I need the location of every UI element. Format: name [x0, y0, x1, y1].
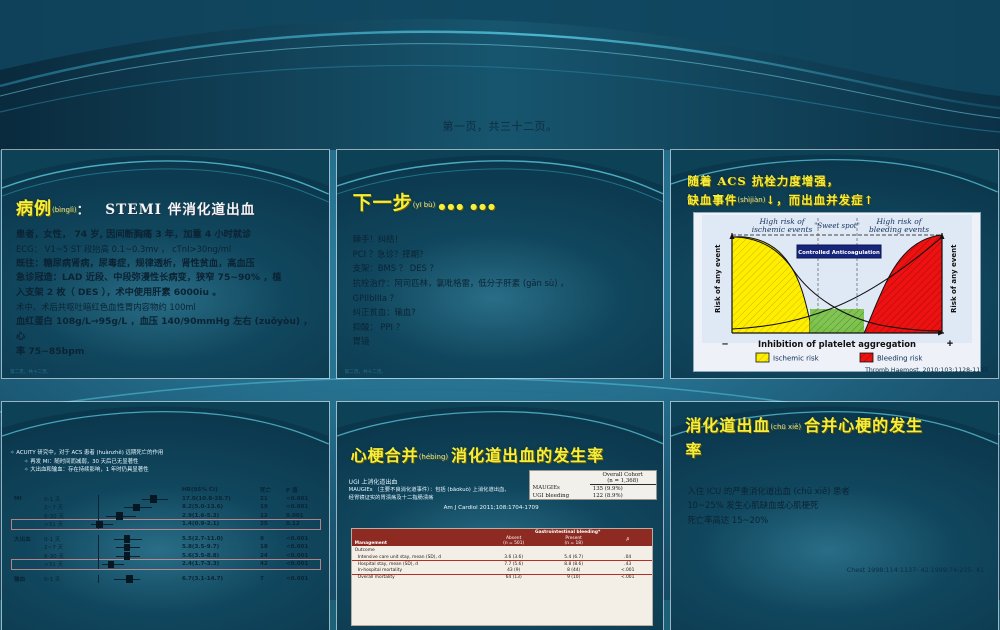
table-row: In-hospital mortality 43 (9) 8 (44) <.00… — [352, 567, 652, 574]
forest-cell — [80, 535, 180, 544]
hr-value: 17.0(10.8-28.7) — [180, 495, 258, 504]
hr-value: 1.4(0.9-2.1) — [180, 520, 258, 529]
row-value: 135 (9.9%) — [590, 485, 656, 493]
slide-footer: 第二页，共十二页。 — [345, 369, 386, 375]
svg-text:+: + — [947, 338, 953, 350]
row-absent: 7.7 (5.6) — [484, 561, 544, 568]
body-line: 抑酸： PPI ？ — [353, 320, 649, 335]
p-value: <0.001 — [284, 560, 320, 569]
note-line: UGI 上消化道出血 — [349, 478, 539, 487]
table-header-row: HR(95% CI) 死亡 P 值 — [12, 486, 320, 495]
forest-cell — [80, 495, 180, 504]
svg-text:ischemic events: ischemic events — [752, 225, 813, 234]
deaths-value: 25 — [258, 520, 284, 529]
body-line: 10~25% 发生心肌缺血或心肌梗死 — [687, 498, 987, 512]
deaths-value: 21 — [258, 495, 284, 504]
deaths-value: 12 — [258, 512, 284, 521]
forest-cell — [80, 575, 180, 584]
row-label: Hospital stay, mean (SD), d — [352, 561, 484, 568]
body-line: 入住 ICU 的严重消化道出血 (chū xiě) 患者 — [687, 484, 987, 498]
slide-title-line-1: 随着 ACS 抗栓力度增强， — [687, 172, 874, 191]
table-header-row: Management Absent (n = 501) Present (n =… — [352, 535, 652, 546]
row-present: 5.4 (6.7) — [544, 554, 604, 561]
body-line: 入支架 2 枚（ DES ），术中使用肝素 6000iu 。 — [16, 286, 316, 301]
body-line: PCI ？急诊？择期? — [353, 247, 649, 262]
group-label: 大出血 — [12, 535, 42, 544]
hr-value: 5.5(2.7-11.0) — [180, 535, 258, 544]
deaths-value: 19 — [258, 503, 284, 512]
period-label: 2~7 天 — [42, 543, 80, 552]
slide-row-1: 病例(bìnglì)： STEMI 伴消化道出血 患者，女性， 74 岁, 因间… — [0, 150, 1000, 378]
row-p: <.001 — [604, 567, 652, 574]
risk-balance-chart-svg: High risk of ischemic events "Sweet spot… — [694, 213, 980, 371]
slide-title: 病例(bìnglì)： STEMI 伴消化道出血 — [16, 194, 255, 219]
table-row: Overall mortality 64 (13) 9 (10) <.001 — [352, 574, 652, 581]
svg-text:Bleeding risk: Bleeding risk — [877, 355, 923, 363]
note-line: 经胃镜证实的胃溃疡及十二指肠溃疡 — [349, 495, 539, 503]
slide-notes: UGI 上消化道出血 MAUGIEs （主要不良消化道事件）：包括 (bāoku… — [349, 478, 539, 512]
group-label: 输血 — [12, 575, 42, 584]
row-value: 122 (8.9%) — [590, 492, 656, 499]
slide-title: 消化道出血(chū xiě)合并心梗的发生 率 — [685, 414, 985, 464]
slide-body: 棘手！纠结！ PCI ？急诊？择期? 支架：BMS ？ DES ？ 抗栓治疗：阿… — [353, 232, 649, 349]
table-row: Hospital stay, mean (SD), d 7.7 (5.6) 8.… — [352, 561, 652, 568]
period-label: 2~7 天 — [42, 503, 80, 512]
body-line: 死亡率高达 15~20% — [687, 513, 987, 527]
hr-value: 2.9(1.6-5.3) — [180, 512, 258, 521]
hr-value: 8.2(5.0-13.6) — [180, 503, 258, 512]
p-value: 0.001 — [284, 512, 320, 521]
row-label: In-hospital mortality — [352, 567, 484, 574]
risk-balance-figure: High risk of ischemic events "Sweet spot… — [693, 212, 981, 372]
overall-cohort-table: Overall Cohort (n = 1,368) MAUGIEs 135 (… — [529, 470, 657, 500]
body-line: 急诊冠造：LAD 近段、中段弥漫性长病变，狭窄 75~90% ，植 — [16, 271, 316, 286]
row-present: 9 (10) — [544, 574, 604, 581]
row-absent: 64 (13) — [484, 574, 544, 581]
row-absent: 43 (9) — [484, 567, 544, 574]
table-row: 8-30 天 5.6(3.5-8.8) 24 <0.001 — [12, 552, 320, 561]
hr-value: 6.7(3.1-14.7) — [180, 575, 258, 584]
slide-thumbnail-mi-gi-bleeding[interactable]: 心梗合并(hébìng)消化道出血的发生率 UGI 上消化道出血 MAUGIEs… — [337, 402, 664, 630]
bullet-row: ✧ 再发 MI：随时间而减弱，30 天后已无显著性 — [10, 458, 322, 467]
bullet-row: ✧ ACUITY 研究中，对于 ACS 患者 (huànzhě) 远期死亡的作用 — [10, 449, 322, 458]
table-row: MI 0-1 天 17.0(10.8-28.7) 21 <0.001 — [12, 495, 320, 504]
period-label: 0-1 天 — [42, 575, 80, 584]
col-header-absent: Absent (n = 501) — [484, 535, 544, 546]
hr-value: 2.4(1.7-3.3) — [180, 560, 258, 569]
forest-cell — [80, 552, 180, 561]
deaths-value: 18 — [258, 543, 284, 552]
gi-bleeding-outcomes-table: Gastrointestinal bleeding* Management Ab… — [351, 528, 653, 626]
slide-title-pinyin: (hébìng) — [419, 453, 448, 461]
body-line: 率 75~85bpm — [16, 345, 316, 360]
row-label: UGI bleeding — [530, 492, 590, 499]
slide-title-pinyin: (bìnglì) — [52, 206, 77, 214]
slide-body: 患者，女性， 74 岁, 因间断胸痛 3 年，加重 4 小时就诊 ECG： V1… — [16, 228, 316, 360]
row-p: .43 — [604, 561, 652, 568]
col-header-present: Present (n = 18) — [544, 535, 604, 546]
row-absent: 3.6 (3.6) — [484, 554, 544, 561]
bullet-row: ✧ 大出血和输血：存在持续影响，1 年时仍具显著性 — [10, 466, 322, 475]
slide-bullets: ✧ ACUITY 研究中，对于 ACS 患者 (huànzhě) 远期死亡的作用… — [10, 449, 322, 475]
period-label: 0-1 天 — [42, 495, 80, 504]
hr-value: 5.8(3.5-9.7) — [180, 543, 258, 552]
row-present: 8.8 (8.6) — [544, 561, 604, 568]
body-line: 纠正贫血：输血? — [353, 305, 649, 320]
group-label: MI — [12, 495, 42, 504]
slide-title: 随着 ACS 抗栓力度增强， 缺血事件(shìjiàn)↓，而出血并发症↑ — [687, 172, 874, 210]
body-line: 支架：BMS ？ DES ？ — [353, 261, 649, 276]
period-label: 0-1 天 — [42, 535, 80, 544]
body-line: 既往：糖尿病肾病，尿毒症，规律透析，肾性贫血，高血压 — [16, 257, 316, 272]
forest-plot-table: HR(95% CI) 死亡 P 值 MI 0-1 天 17.0(10.8-28.… — [12, 486, 320, 583]
slide-title-line-1: 消化道出血(chū xiě)合并心梗的发生 — [685, 414, 985, 439]
forest-cell — [80, 503, 180, 512]
body-line: 血红蛋白 108g/L→95g/L ，血压 140/90mmHg 左右 (zuǒ… — [16, 315, 316, 345]
row-label: Intensive care unit stay, mean (SD), d — [352, 554, 484, 561]
svg-text:Controlled Anticoagulation: Controlled Anticoagulation — [799, 250, 881, 256]
col-absent-line2: (n = 501) — [487, 541, 541, 546]
period-label: >31 天 — [42, 560, 80, 569]
down-arrow-icon: ↓ — [765, 193, 776, 207]
bullet-text: 大出血和输血：存在持续影响，1 年时仍具显著性 — [30, 467, 148, 473]
col-header-p: P 值 — [284, 486, 320, 495]
table-row: 8-30 天 2.9(1.6-5.3) 12 0.001 — [12, 512, 320, 521]
note-line: MAUGIEs （主要不良消化道事件）：包括 (bāokuò) 上消化道出血、 — [349, 487, 539, 495]
body-line: 术中、术后共呕吐暗红色血性胃内容物约 100ml — [16, 301, 316, 315]
title-segment-bleeding: ，而出血并发症 — [776, 193, 864, 207]
col-header-hr: HR(95% CI) — [180, 486, 258, 495]
slide-title-part-b: 消化道出血的发生率 — [451, 446, 604, 465]
row-p: <.001 — [604, 574, 652, 581]
p-value: 0.12 — [284, 520, 320, 529]
col-header-management: Management — [352, 535, 484, 546]
svg-text:Ischemic risk: Ischemic risk — [773, 355, 820, 363]
body-line: 胃镜 — [353, 334, 649, 349]
bullet-text: ACUITY 研究中，对于 ACS 患者 (huànzhě) 远期死亡的作用 — [16, 450, 163, 456]
forest-plot: HR(95% CI) 死亡 P 值 MI 0-1 天 17.0(10.8-28.… — [12, 486, 322, 583]
col-header-p: P — [604, 535, 652, 546]
body-line: 患者，女性， 74 岁, 因间断胸痛 3 年，加重 4 小时就诊 — [16, 228, 316, 243]
slide-title-main: 下一步 — [353, 192, 413, 214]
slide-title-part-b: 合并心梗的发生 — [804, 416, 923, 435]
forest-cell — [80, 560, 180, 569]
table-row: 大出血 0-1 天 5.5(2.7-11.0) 9 <0.001 — [12, 535, 320, 544]
slide-grid: 病例(bìnglì)： STEMI 伴消化道出血 患者，女性， 74 岁, 因间… — [0, 150, 1000, 630]
slide-title-line-2: 率 — [685, 439, 985, 464]
p-value: <0.001 — [284, 575, 320, 584]
section-label: Outcome — [352, 546, 652, 554]
deaths-value: 7 — [258, 575, 284, 584]
forest-cell — [80, 543, 180, 552]
row-label: MAUGIEs — [530, 485, 590, 493]
slide-body: 入住 ICU 的严重消化道出血 (chū xiě) 患者 10~25% 发生心肌… — [687, 484, 987, 527]
table-row: 2~7 天 5.8(3.5-9.7) 18 <0.001 — [12, 543, 320, 552]
svg-text:Risk of any event: Risk of any event — [950, 244, 958, 313]
table-header-row: Overall Cohort (n = 1,368) — [530, 471, 656, 485]
slide-row-2: ✧ ACUITY 研究中，对于 ACS 患者 (huànzhě) 远期死亡的作用… — [0, 402, 1000, 630]
slide-title-line-2: 缺血事件(shìjiàn)↓，而出血并发症↑ — [687, 191, 874, 210]
period-label: 8-30 天 — [42, 552, 80, 561]
deaths-value: 42 — [258, 560, 284, 569]
table-row: Intensive care unit stay, mean (SD), d 3… — [352, 554, 652, 561]
deaths-value: 9 — [258, 535, 284, 544]
svg-text:bleeding events: bleeding events — [869, 225, 929, 234]
bullet-text: 再发 MI：随时间而减弱，30 天后已无显著性 — [30, 459, 138, 465]
period-label: >31 天 — [42, 520, 80, 529]
body-line: GPIIbIIIa ？ — [353, 291, 649, 306]
slide-title-rest: STEMI 伴消化道出血 — [105, 202, 255, 218]
slide-thumbnail-next-step[interactable]: 下一步(yī bù)●●● ●●● 棘手！纠结！ PCI ？急诊？择期? 支架：… — [337, 150, 664, 378]
body-line: ECG： V1~5 ST 段抬高 0.1~0.3mv ， cTnI>30ng/m… — [16, 243, 316, 257]
period-label: 8-30 天 — [42, 512, 80, 521]
table-row-highlighted: >31 天 2.4(1.7-3.3) 42 <0.001 — [12, 560, 320, 569]
slide-thumbnail-case-stemi[interactable]: 病例(bìnglì)： STEMI 伴消化道出血 患者，女性， 74 岁, 因间… — [2, 150, 329, 378]
slide-title-part-a: 消化道出血 — [685, 416, 770, 435]
slide-title-colon: ： — [77, 203, 91, 218]
note-citation: Am J Cardiol 2011;108:1704-1709 — [349, 504, 539, 512]
svg-text:Inhibition of platelet aggrega: Inhibition of platelet aggregation — [758, 339, 916, 349]
slide-thumbnail-acuity-forest[interactable]: ✧ ACUITY 研究中，对于 ACS 患者 (huànzhě) 远期死亡的作用… — [2, 402, 329, 630]
p-value: <0.001 — [284, 495, 320, 504]
p-value: <0.001 — [284, 503, 320, 512]
body-line: 棘手！纠结！ — [353, 232, 649, 247]
table-row: 2~7 天 8.2(5.0-13.6) 19 <0.001 — [12, 503, 320, 512]
row-p: .04 — [604, 554, 652, 561]
row-present: 8 (44) — [544, 567, 604, 574]
slide-citation: Thromb Haemost. 2010;103:1128-1135 — [865, 367, 988, 374]
slide-title-main: 病例 — [16, 199, 52, 219]
row-label: Overall mortality — [352, 574, 484, 581]
slide-citation: Chest 1998;114:1137- 42.1999;74:235- 41 — [847, 566, 984, 574]
deaths-value: 24 — [258, 552, 284, 561]
table-section-row: Outcome — [352, 546, 652, 554]
svg-text:Risk of any event: Risk of any event — [714, 244, 722, 313]
col-header-deaths: 死亡 — [258, 486, 284, 495]
table-row: UGI bleeding 122 (8.9%) — [530, 492, 656, 499]
slide-title-pinyin: (chū xiě) — [770, 423, 801, 431]
svg-text:"Sweet spot": "Sweet spot" — [815, 222, 861, 230]
p-value: <0.001 — [284, 543, 320, 552]
table-row: MAUGIEs 135 (9.9%) — [530, 485, 656, 493]
slide-thumbnail-acs-balance[interactable]: 随着 ACS 抗栓力度增强， 缺血事件(shìjiàn)↓，而出血并发症↑ — [671, 150, 998, 378]
slide-thumbnail-gi-bleeding-mi[interactable]: 消化道出血(chū xiě)合并心梗的发生 率 入住 ICU 的严重消化道出血 … — [671, 402, 998, 630]
body-line: 抗栓治疗：阿司匹林，氯吡格雷，低分子肝素 (gān sù) ， — [353, 276, 649, 291]
slide-title-part-a: 心梗合并 — [351, 446, 419, 465]
svg-text:–: – — [722, 338, 728, 350]
slide-title: 下一步(yī bù)●●● ●●● — [353, 188, 497, 215]
overall-cohort-header: Overall Cohort (n = 1,368) — [590, 471, 656, 485]
slide-title-dots: ●●● ●●● — [438, 201, 497, 211]
slide-footer: 第二页，共十二页。 — [10, 369, 51, 375]
forest-cell — [80, 512, 180, 521]
p-value: <0.001 — [284, 552, 320, 561]
table-row: 输血 0-1 天 6.7(3.1-14.7) 7 <0.001 — [12, 575, 320, 584]
hr-value: 5.6(3.5-8.8) — [180, 552, 258, 561]
title-segment-ischemic: 缺血事件 — [687, 193, 737, 207]
slide-title: 心梗合并(hébìng)消化道出血的发生率 — [351, 442, 605, 466]
forest-cell — [80, 520, 180, 529]
page-header-pagination: 第一页，共三十二页。 — [0, 118, 1000, 134]
p-value: <0.001 — [284, 535, 320, 544]
up-arrow-icon: ↑ — [864, 193, 875, 207]
slide-title-pinyin: (yī bù) — [413, 201, 436, 209]
col-present-line2: (n = 18) — [547, 541, 601, 546]
header-line-2: (n = 1,368) — [593, 478, 653, 484]
title-pinyin: (shìjiàn) — [737, 196, 765, 204]
table-row-highlighted: >31 天 1.4(0.9-2.1) 25 0.12 — [12, 520, 320, 529]
